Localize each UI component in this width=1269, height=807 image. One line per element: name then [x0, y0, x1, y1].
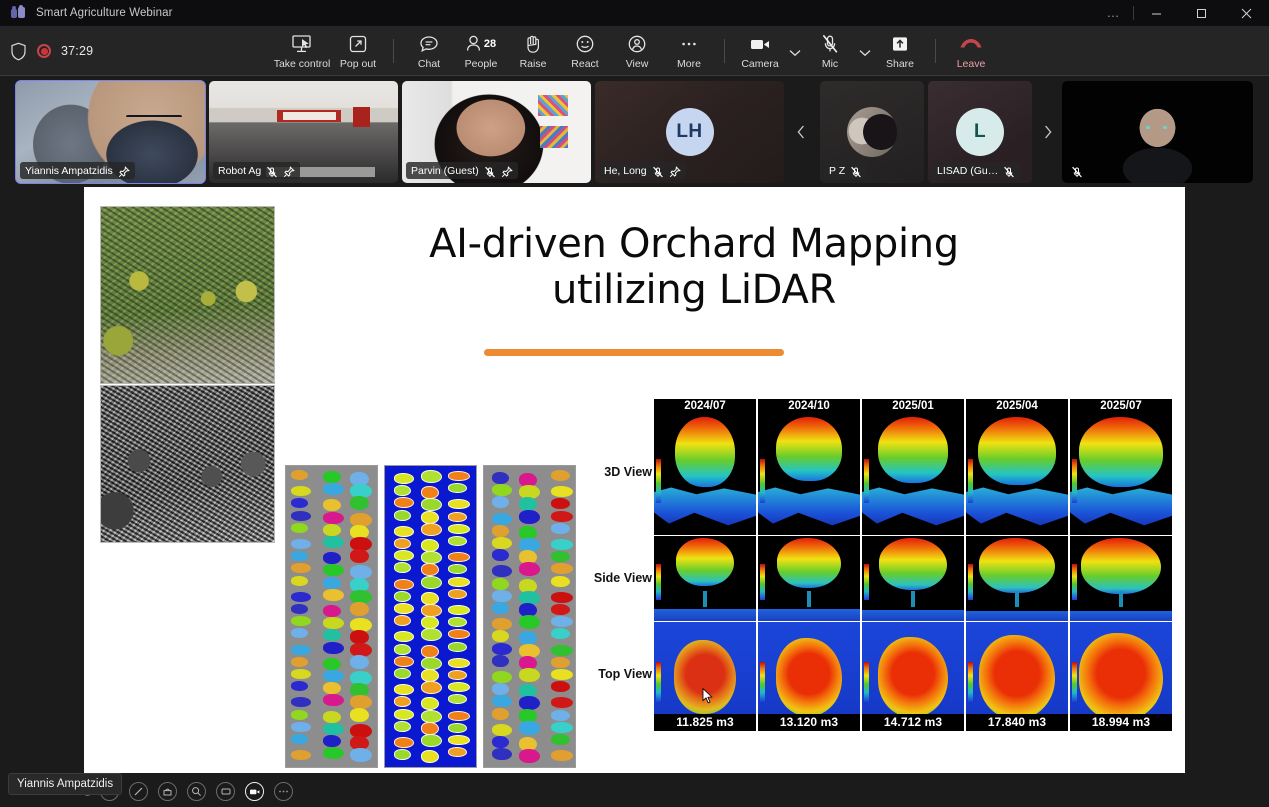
segmented-tree-blob — [492, 537, 512, 549]
stamp-button[interactable] — [158, 782, 177, 801]
segmented-tree-blob — [323, 552, 341, 564]
segmented-tree-blob — [551, 750, 573, 761]
mic-muted-icon — [820, 33, 840, 55]
filmstrip-next-button[interactable] — [1039, 81, 1057, 183]
avatar-initials: LH — [676, 121, 702, 143]
page-title: AI-driven Orchard Mapping utilizing LiDA… — [374, 222, 1014, 313]
grayscale-intensity-point-cloud — [100, 385, 275, 543]
volume-label: 17.840 m3 — [966, 714, 1068, 731]
segmented-tree-blob — [448, 471, 470, 481]
more-dots-icon — [679, 33, 699, 55]
participant-filmstrip: Yiannis Ampatzidis Robot Ag — [0, 77, 1269, 187]
segmented-tree-blob — [291, 697, 311, 707]
segmented-tree-blob — [448, 711, 470, 721]
raise-hand-button[interactable]: Raise — [507, 28, 559, 74]
row-label-3d-view: 3D View — [574, 465, 652, 479]
cell-top-view: 17.840 m3 — [966, 622, 1068, 731]
segmented-tree-blob — [492, 683, 509, 695]
segmented-tree-blob — [394, 615, 411, 626]
presenter-toolbar: Yiannis Ampatzidis — [0, 773, 1269, 807]
segmented-tree-blob — [291, 523, 308, 533]
hang-up-icon — [958, 33, 984, 55]
segmented-tree-blob — [448, 723, 467, 733]
participant-tile-unnamed[interactable] — [1062, 81, 1253, 183]
camera-icon — [749, 33, 771, 55]
participant-name: Yiannis Ampatzidis — [25, 165, 113, 177]
pin-icon[interactable] — [283, 165, 295, 177]
segmented-tree-blob — [492, 472, 509, 484]
raise-hand-label: Raise — [520, 58, 547, 70]
participant-name: Parvin (Guest) — [411, 165, 479, 177]
segmented-tree-blob — [492, 695, 512, 707]
segmented-tree-blob — [394, 737, 414, 748]
presenter-tools — [100, 782, 293, 801]
view-label: View — [626, 58, 649, 70]
avatar: L — [956, 108, 1004, 156]
segmented-tree-blob — [448, 658, 470, 668]
zoom-button[interactable] — [187, 782, 206, 801]
chat-label: Chat — [418, 58, 440, 70]
segmented-tree-blob — [448, 524, 470, 534]
segmented-tree-blob — [291, 604, 308, 614]
pin-icon[interactable] — [501, 165, 513, 177]
segmented-tree-blob — [492, 618, 512, 630]
segmented-tree-blob — [291, 511, 311, 521]
segmented-tree-blob — [291, 669, 311, 679]
segmented-tree-blob — [394, 526, 414, 537]
meeting-controls: Take control Pop out — [0, 26, 1269, 76]
segmented-tree-blob — [323, 629, 341, 641]
take-control-label: Take control — [274, 58, 331, 70]
segmented-tree-blob — [394, 485, 411, 496]
segmented-tree-blob — [551, 470, 570, 481]
participant-name: P Z — [829, 165, 845, 177]
lidar-column-2024-10: 2024/10 13.120 m3 — [758, 399, 860, 731]
segmented-tree-blob — [394, 579, 414, 590]
segmented-tree-blob — [323, 642, 344, 654]
segmented-tree-blob — [551, 563, 573, 574]
people-label: People — [465, 58, 498, 70]
segmented-tree-blob — [492, 708, 509, 720]
segmented-tree-blob — [551, 486, 573, 497]
participant-name-bar: He, Long — [599, 162, 686, 179]
segmented-tree-blob — [551, 539, 573, 550]
share-button[interactable]: Share — [874, 28, 926, 74]
view-icon — [627, 33, 647, 55]
segmented-tree-blob — [350, 748, 372, 762]
cell-top-view: 13.120 m3 — [758, 622, 860, 731]
avatar-initials: L — [974, 121, 986, 143]
segmented-tree-blob — [394, 709, 414, 720]
lidar-column-2025-01: 2025/01 14.712 m3 — [862, 399, 964, 731]
segmented-tree-blob — [421, 576, 442, 589]
mouse-cursor-icon — [702, 688, 713, 704]
segmented-tree-blob — [551, 616, 573, 627]
shared-content-stage: AI-driven Orchard Mapping utilizing LiDA… — [0, 187, 1269, 807]
segmented-tree-blob — [323, 723, 344, 735]
participant-tile-he-long[interactable]: LH He, Long — [595, 81, 784, 183]
minimize-icon[interactable] — [1134, 0, 1179, 26]
segmented-tree-blob — [421, 592, 439, 605]
cell-side-view — [862, 536, 964, 621]
segmented-tree-blob — [394, 631, 414, 642]
segmented-tree-blob — [421, 669, 439, 682]
segmented-tree-blob — [323, 694, 344, 706]
segmented-tree-blob — [291, 645, 311, 655]
segmented-tree-blob — [421, 722, 439, 735]
segmented-tree-blob — [492, 513, 512, 525]
segmented-tree-blob — [551, 604, 570, 615]
maximize-icon[interactable] — [1179, 0, 1224, 26]
segmented-tree-blob — [551, 681, 570, 692]
segmented-tree-blob — [492, 484, 512, 496]
segmented-tree-blob — [291, 563, 311, 573]
toolbar-divider-3 — [935, 39, 936, 63]
segmented-tree-blob — [448, 682, 470, 692]
camera-chevron-down-icon[interactable] — [786, 28, 804, 74]
participant-name-bar: Robot Ag — [213, 162, 300, 179]
segmented-tree-blob — [323, 536, 344, 548]
participant-name: LISAD (Gu… — [937, 165, 998, 177]
segmented-tree-blob — [492, 630, 509, 642]
segmented-tree-blob — [291, 551, 308, 561]
segmented-tree-blob — [448, 617, 467, 627]
people-count-badge: 28 — [484, 38, 496, 50]
pop-out-icon — [348, 33, 368, 55]
segmented-tree-blob — [291, 681, 308, 691]
pop-out-label: Pop out — [340, 58, 376, 70]
presenter-more-button[interactable] — [274, 782, 293, 801]
cell-top-view: 18.994 m3 — [1070, 622, 1172, 731]
segmented-tree-blob — [551, 592, 573, 603]
segmented-tree-blob — [291, 498, 308, 508]
segmented-tree-blob — [551, 710, 570, 721]
title-underline — [484, 349, 784, 356]
segmented-tree-blob — [492, 671, 512, 683]
segmented-tree-blob — [291, 592, 311, 602]
more-label: More — [677, 58, 701, 70]
segmented-tree-blob — [551, 628, 570, 639]
segmented-tree-blob — [394, 668, 411, 679]
segmented-tree-blob — [394, 603, 414, 614]
segmented-tree-blob — [421, 681, 442, 694]
segmented-tree-blob — [448, 747, 467, 757]
segmented-tree-blob — [519, 668, 540, 682]
take-control-icon — [291, 33, 313, 55]
toolbar-divider-1 — [393, 39, 394, 63]
segmented-tree-blob — [551, 734, 570, 745]
camera-label: Camera — [741, 58, 778, 70]
segmented-tree-blob — [394, 721, 411, 732]
segmented-tree-blob — [551, 722, 573, 733]
segmented-tree-blob — [323, 577, 341, 589]
people-icon: 28 — [466, 33, 496, 55]
segmented-tree-blob — [551, 697, 573, 708]
mic-muted-icon — [850, 165, 862, 177]
segmented-tree-blob — [323, 499, 341, 511]
segmented-tree-blob — [421, 645, 439, 658]
participant-tile-parvin-guest[interactable]: Parvin (Guest) — [402, 81, 591, 183]
tree-segmentation-blue-center — [384, 465, 477, 768]
window-controls: … — [1095, 0, 1269, 26]
segmented-tree-blob — [448, 577, 470, 587]
segmented-tree-blob — [519, 562, 540, 576]
segmented-tree-blob — [323, 735, 341, 747]
column-header: 2025/07 — [1070, 399, 1172, 413]
cell-3d-view — [1070, 413, 1172, 535]
segmented-tree-blob — [551, 669, 573, 680]
column-header: 2025/04 — [966, 399, 1068, 413]
segmented-tree-blob — [291, 616, 311, 626]
segmented-tree-blob — [421, 657, 442, 670]
segmented-tree-blob — [421, 498, 442, 511]
segmented-tree-blob — [323, 512, 344, 524]
teams-meeting-window: Smart Agriculture Webinar … 37:29 — [0, 0, 1269, 807]
meeting-toolbar: 37:29 Take control — [0, 26, 1269, 76]
cell-top-view: 14.712 m3 — [862, 622, 964, 731]
segmented-tree-blob — [323, 747, 344, 759]
cell-side-view — [758, 536, 860, 621]
segmented-tree-blob — [394, 562, 411, 573]
participant-video-feed — [1062, 81, 1253, 183]
tree-segmentation-rgb-right — [483, 465, 576, 768]
segmented-tree-blob — [394, 538, 411, 549]
segmented-tree-blob — [394, 656, 414, 667]
participant-tile-robot-ag[interactable]: Robot Ag — [209, 81, 398, 183]
segmented-tree-blob — [421, 470, 442, 483]
segmented-tree-blob — [448, 483, 467, 493]
segmented-tree-blob — [492, 525, 509, 537]
segmented-tree-blob — [492, 602, 509, 614]
segmented-tree-blob — [291, 657, 308, 667]
react-label: React — [571, 58, 598, 70]
camera-button[interactable]: Camera — [734, 28, 786, 74]
titlebar-more-icon[interactable]: … — [1095, 8, 1134, 18]
lidar-column-2025-07: 2025/07 18.994 m3 — [1070, 399, 1172, 731]
segmented-tree-blob — [492, 736, 509, 748]
segmented-tree-blob — [551, 657, 570, 668]
take-control-button[interactable]: Take control — [272, 28, 332, 74]
segmented-tree-blob — [323, 658, 341, 670]
segmented-tree-blob — [323, 670, 344, 682]
segmented-tree-blob — [394, 684, 414, 695]
segmented-tree-blob — [492, 655, 509, 667]
segmented-tree-blob — [323, 564, 344, 576]
mic-muted-icon — [484, 165, 496, 177]
presenter-tooltip: Yiannis Ampatzidis — [8, 773, 122, 795]
segmented-tree-blob — [448, 589, 467, 599]
participant-name-bar: LISAD (Gu… — [932, 162, 1020, 179]
segmented-tree-blob — [421, 616, 439, 629]
segmented-tree-blob — [323, 471, 341, 483]
cell-side-view — [654, 536, 756, 621]
filmstrip-prev-button[interactable] — [792, 81, 810, 183]
participant-name-bar — [1066, 162, 1088, 179]
segmented-tree-blob — [421, 734, 442, 747]
segmented-tree-blob — [291, 722, 311, 732]
segmented-tree-blob — [448, 605, 470, 615]
avatar: LH — [666, 108, 714, 156]
segmented-tree-blob — [421, 523, 442, 536]
segmented-tree-blob — [492, 590, 512, 602]
cell-3d-view — [758, 413, 860, 535]
close-icon[interactable] — [1224, 0, 1269, 26]
segmented-tree-blob — [551, 523, 570, 534]
people-button[interactable]: 28 People — [455, 28, 507, 74]
mic-muted-icon — [1003, 165, 1015, 177]
row-label-top-view: Top View — [574, 667, 652, 681]
mic-button[interactable]: Mic — [804, 28, 856, 74]
citrus-canopy-point-cloud — [100, 206, 275, 384]
volume-label: 11.825 m3 — [654, 714, 756, 731]
participant-name-bar: Yiannis Ampatzidis — [20, 162, 135, 179]
toolbar-divider-2 — [724, 39, 725, 63]
segmented-tree-blob — [421, 750, 439, 763]
leave-label: Leave — [957, 58, 986, 70]
segmented-tree-blob — [448, 642, 467, 652]
window-title-bar: Smart Agriculture Webinar … — [0, 0, 1269, 26]
segmented-tree-blob — [323, 711, 341, 723]
segmented-tree-blob — [448, 629, 470, 639]
participant-name: Robot Ag — [218, 165, 261, 177]
notes-button[interactable] — [216, 782, 235, 801]
raise-hand-icon — [524, 33, 542, 55]
tree-segmentation-panels — [285, 465, 580, 768]
segmented-tree-blob — [323, 589, 344, 601]
lidar-column-2025-04: 2025/04 17.840 m3 — [966, 399, 1068, 731]
segmented-tree-blob — [323, 605, 341, 617]
view-button[interactable]: View — [611, 28, 663, 74]
segmented-tree-blob — [394, 644, 411, 655]
segmented-tree-blob — [492, 748, 512, 760]
lidar-view-grid: 3D View Side View Top View 2024/07 — [654, 399, 1178, 731]
volume-label: 14.712 m3 — [862, 714, 964, 731]
segmented-tree-blob — [421, 563, 439, 576]
segmented-tree-blob — [394, 696, 411, 707]
cell-3d-view — [966, 413, 1068, 535]
volume-label: 13.120 m3 — [758, 714, 860, 731]
segmented-tree-blob — [323, 483, 344, 495]
cell-3d-view — [654, 413, 756, 535]
react-button[interactable]: React — [559, 28, 611, 74]
column-header: 2024/07 — [654, 399, 756, 413]
volume-label: 18.994 m3 — [1070, 714, 1172, 731]
segmented-tree-blob — [492, 578, 509, 590]
segmented-tree-blob — [448, 694, 467, 704]
segmented-tree-blob — [394, 497, 414, 508]
chat-button[interactable]: Chat — [403, 28, 455, 74]
segmented-tree-blob — [421, 539, 439, 552]
segmented-tree-blob — [350, 549, 369, 563]
presenter-camera-button[interactable] — [245, 782, 264, 801]
segmented-tree-blob — [421, 551, 442, 564]
pop-out-button[interactable]: Pop out — [332, 28, 384, 74]
mic-muted-icon — [266, 165, 278, 177]
lidar-column-2024-07: 2024/07 11.825 m3 — [654, 399, 756, 731]
segmented-tree-blob — [421, 486, 439, 499]
participant-name: He, Long — [604, 165, 647, 177]
participant-tile-yiannis-ampatzidis[interactable]: Yiannis Ampatzidis — [16, 81, 205, 183]
presentation-slide[interactable]: AI-driven Orchard Mapping utilizing LiDA… — [84, 187, 1185, 776]
segmented-tree-blob — [492, 496, 509, 508]
segmented-tree-blob — [350, 655, 369, 669]
segmented-tree-blob — [350, 708, 369, 722]
cell-side-view — [966, 536, 1068, 621]
segmented-tree-blob — [551, 576, 570, 587]
segmented-tree-blob — [323, 617, 344, 629]
segmented-tree-blob — [519, 749, 540, 763]
segmented-tree-blob — [421, 511, 439, 524]
react-smiley-icon — [575, 33, 595, 55]
more-button[interactable]: More — [663, 28, 715, 74]
segmented-tree-blob — [492, 565, 512, 577]
participant-tile-p-z[interactable]: P Z — [820, 81, 924, 183]
pen-button[interactable] — [129, 782, 148, 801]
segmented-tree-blob — [492, 724, 512, 736]
share-label: Share — [886, 58, 914, 70]
column-header: 2025/01 — [862, 399, 964, 413]
segmented-tree-blob — [291, 734, 308, 744]
segmented-tree-blob — [421, 604, 442, 617]
window-title: Smart Agriculture Webinar — [36, 7, 173, 19]
segmented-tree-blob — [291, 576, 308, 586]
segmented-tree-blob — [551, 511, 573, 522]
segmented-tree-blob — [394, 473, 414, 484]
participant-tile-lisad-guest[interactable]: L LISAD (Gu… — [928, 81, 1032, 183]
pin-icon[interactable] — [669, 165, 681, 177]
segmented-tree-blob — [448, 536, 467, 546]
segmented-tree-blob — [291, 628, 308, 638]
mic-muted-icon — [1071, 165, 1083, 177]
leave-button[interactable]: Leave — [945, 28, 997, 74]
segmented-tree-blob — [350, 496, 369, 510]
row-label-side-view: Side View — [574, 571, 652, 585]
segmented-tree-blob — [448, 564, 467, 574]
participant-name-bar: P Z — [824, 162, 867, 179]
segmented-tree-blob — [551, 645, 573, 656]
segmented-tree-blob — [448, 499, 470, 509]
segmented-tree-blob — [291, 750, 311, 760]
cell-3d-view — [862, 413, 964, 535]
segmented-tree-blob — [519, 615, 540, 629]
segmented-tree-blob — [519, 721, 540, 735]
segmented-tree-blob — [291, 539, 311, 549]
segmented-tree-blob — [448, 735, 470, 745]
segmented-tree-blob — [394, 749, 411, 760]
share-up-arrow-icon — [890, 33, 910, 55]
teams-people-icon — [10, 5, 26, 21]
segmented-tree-blob — [448, 512, 467, 522]
pin-icon[interactable] — [118, 165, 130, 177]
segmented-tree-blob — [551, 498, 570, 509]
segmented-tree-blob — [323, 524, 341, 536]
participant-name-bar: Parvin (Guest) — [406, 162, 518, 179]
segmented-tree-blob — [394, 510, 411, 521]
segmented-tree-blob — [323, 682, 341, 694]
column-header: 2024/10 — [758, 399, 860, 413]
chat-icon — [419, 33, 439, 55]
segmented-tree-blob — [448, 670, 467, 680]
cell-side-view — [1070, 536, 1172, 621]
segmented-tree-blob — [394, 550, 414, 561]
segmented-tree-blob — [421, 697, 439, 710]
segmented-tree-blob — [421, 628, 442, 641]
segmented-tree-blob — [492, 549, 509, 561]
mic-chevron-down-icon[interactable] — [856, 28, 874, 74]
segmented-tree-blob — [394, 591, 411, 602]
cell-top-view: 11.825 m3 — [654, 622, 756, 731]
segmented-tree-blob — [291, 470, 308, 480]
